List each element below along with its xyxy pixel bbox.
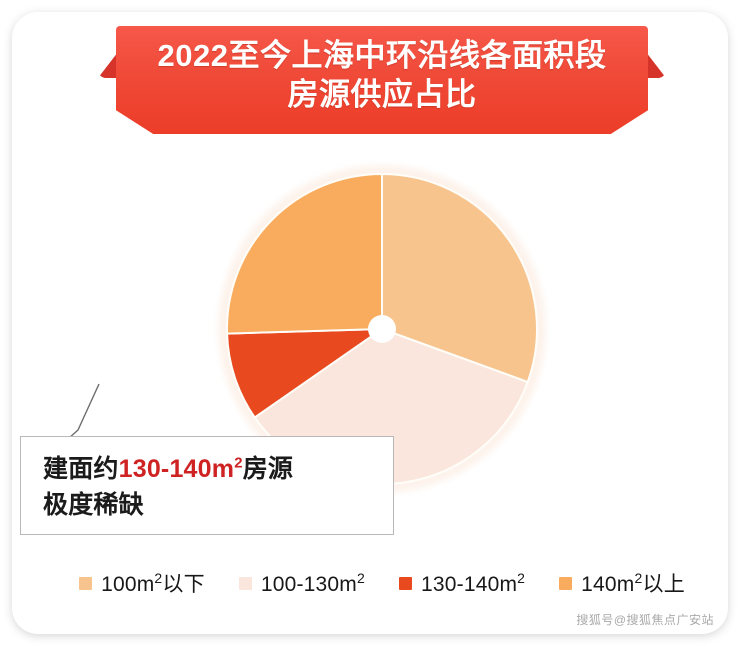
legend-swatch bbox=[239, 577, 252, 590]
donut-center-hole bbox=[368, 315, 396, 343]
legend-label-superscript: 2 bbox=[154, 570, 162, 586]
title-banner: 2022至今上海中环沿线各面积段 房源供应占比 bbox=[12, 12, 728, 162]
legend-label-superscript: 2 bbox=[635, 570, 643, 586]
callout-line-2: 极度稀缺 bbox=[43, 488, 393, 524]
callout-prefix: 建面约 bbox=[43, 455, 119, 483]
ribbon-fold-right bbox=[626, 26, 666, 78]
legend-label: 100m2以下 bbox=[101, 568, 205, 598]
infographic-card: 2022至今上海中环沿线各面积段 房源供应占比 建面约130-140m2房源 极… bbox=[12, 12, 728, 634]
pie-slice bbox=[227, 174, 382, 334]
legend-item[interactable]: 100-130m2 bbox=[239, 570, 365, 597]
ribbon-fold-left bbox=[98, 26, 138, 78]
callout-suffix: 房源 bbox=[243, 455, 293, 483]
legend-item[interactable]: 140m2以上 bbox=[559, 568, 685, 598]
title-line-1: 2022至今上海中环沿线各面积段 bbox=[158, 37, 607, 76]
legend-swatch bbox=[399, 577, 412, 590]
callout-line-1: 建面约130-140m2房源 bbox=[43, 452, 393, 488]
legend-label: 130-140m2 bbox=[421, 570, 525, 597]
title-ribbon: 2022至今上海中环沿线各面积段 房源供应占比 bbox=[116, 26, 648, 134]
watermark: 搜狐号@搜狐焦点广安站 bbox=[576, 611, 714, 628]
legend-label: 140m2以上 bbox=[581, 568, 685, 598]
legend-swatch bbox=[79, 577, 92, 590]
legend-label-superscript: 2 bbox=[357, 570, 365, 586]
callout-box: 建面约130-140m2房源 极度稀缺 bbox=[20, 436, 394, 535]
legend-label-superscript: 2 bbox=[517, 570, 525, 586]
legend-item[interactable]: 130-140m2 bbox=[399, 570, 525, 597]
callout-highlight: 130-140m bbox=[119, 455, 235, 483]
title-line-2: 房源供应占比 bbox=[288, 76, 477, 115]
chart-legend: 100m2以下100-130m2130-140m2140m2以上 bbox=[12, 568, 728, 598]
callout-highlight-superscript: 2 bbox=[234, 455, 243, 472]
legend-swatch bbox=[559, 577, 572, 590]
legend-label: 100-130m2 bbox=[261, 570, 365, 597]
legend-item[interactable]: 100m2以下 bbox=[79, 568, 205, 598]
